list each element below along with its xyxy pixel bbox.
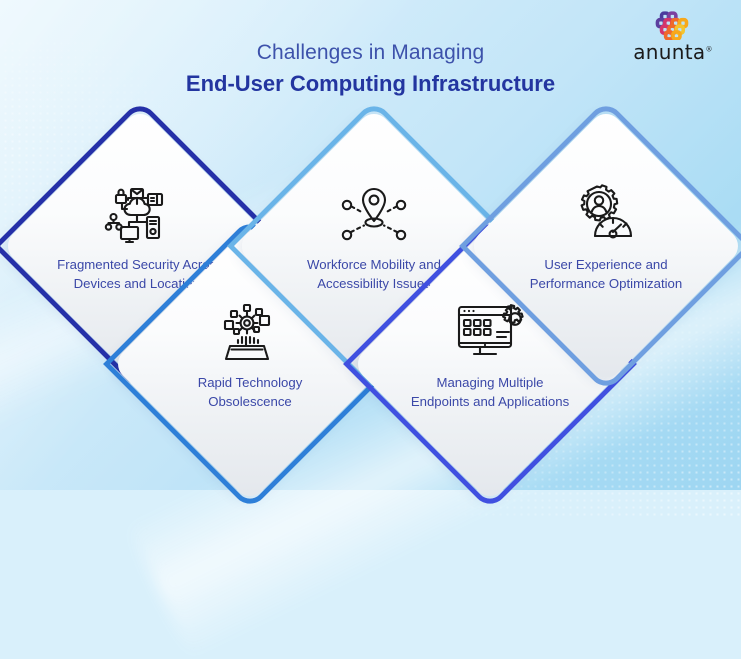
challenge-card-grid: Fragmented Security Across Devices and L… — [0, 0, 741, 490]
card-label: Managing Multiple Endpoints and Applicat… — [406, 374, 574, 411]
card-label: User Experience and Performance Optimiza… — [522, 256, 690, 293]
gear-user-gauge-icon — [569, 182, 643, 248]
location-pin-network-icon — [337, 182, 411, 248]
challenge-card-user-experience-performance[interactable]: User Experience and Performance Optimiza… — [508, 148, 704, 344]
card-label: Rapid Technology Obsolescence — [166, 374, 334, 411]
cloud-network-security-icon — [103, 182, 177, 248]
